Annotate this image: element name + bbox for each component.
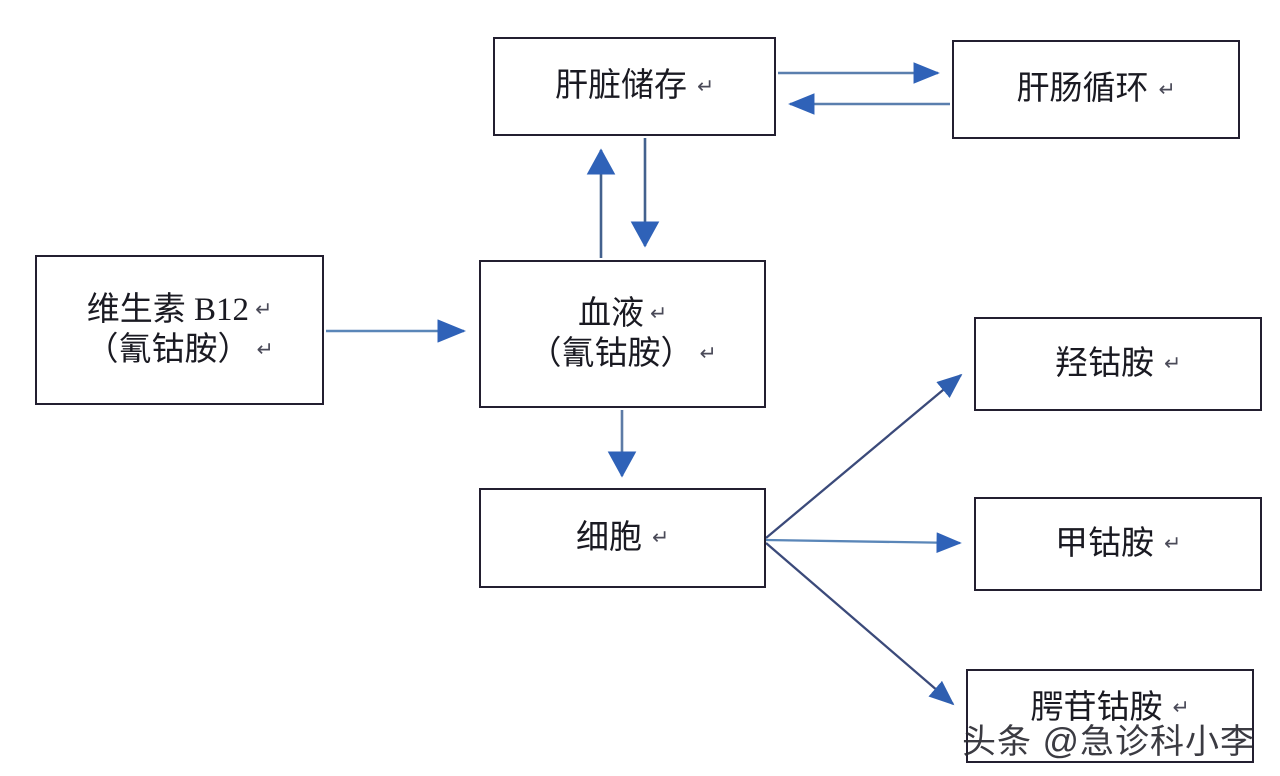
- node-enterohepatic-line-1: 肝肠循环↵: [1016, 69, 1175, 109]
- node-hydroxocobalamin-line-1: 羟钴胺↵: [1055, 344, 1181, 384]
- node-blood-line-1: 血液↵: [578, 294, 667, 334]
- edge-cell-to-methylcobalamin: [766, 540, 960, 543]
- pilcrow-mark: ↵: [1154, 351, 1181, 375]
- watermark-prefix: 头条: [962, 723, 1032, 761]
- node-hydroxocobalamin[interactable]: 羟钴胺↵: [974, 317, 1262, 411]
- node-methylcobalamin-line-1: 甲钴胺↵: [1055, 524, 1181, 564]
- node-enterohepatic-circulation[interactable]: 肝肠循环↵: [952, 40, 1240, 139]
- node-vitamin-b12[interactable]: 维生素 B12↵ （氰钴胺）↵: [35, 255, 324, 405]
- pilcrow-mark: ↵: [250, 337, 273, 361]
- node-vitamin-b12-line-1: 维生素 B12↵: [87, 290, 272, 330]
- node-methylcobalamin[interactable]: 甲钴胺↵: [974, 497, 1262, 591]
- node-liver-storage[interactable]: 肝脏储存↵: [493, 37, 776, 136]
- pilcrow-mark: ↵: [644, 301, 667, 325]
- pilcrow-mark: ↵: [249, 297, 272, 321]
- watermark-handle: 急诊科小李: [1080, 723, 1255, 761]
- node-vitamin-b12-line-2: （氰钴胺）↵: [85, 330, 273, 370]
- pilcrow-mark: ↵: [687, 74, 714, 98]
- node-blood-line-2: （氰钴胺）↵: [528, 334, 716, 374]
- node-cell[interactable]: 细胞↵: [479, 488, 766, 588]
- edge-cell-to-adenosylcobalamin: [766, 543, 953, 704]
- watermark: 头条 @急诊科小李: [962, 714, 1255, 763]
- node-blood[interactable]: 血液↵ （氰钴胺）↵: [479, 260, 766, 408]
- node-liver-storage-line-1: 肝脏储存↵: [555, 66, 714, 106]
- pilcrow-mark: ↵: [1154, 531, 1181, 555]
- pilcrow-mark: ↵: [642, 525, 669, 549]
- pilcrow-mark: ↵: [693, 341, 716, 365]
- watermark-at-sign: @: [1042, 720, 1080, 761]
- diagram-canvas: 肝脏储存↵ 肝肠循环↵ 维生素 B12↵ （氰钴胺）↵ 血液↵ （氰钴胺）↵ 细…: [0, 0, 1280, 776]
- edge-cell-to-hydroxocobalamin: [766, 375, 961, 538]
- node-cell-line-1: 细胞↵: [576, 518, 669, 558]
- pilcrow-mark: ↵: [1148, 77, 1175, 101]
